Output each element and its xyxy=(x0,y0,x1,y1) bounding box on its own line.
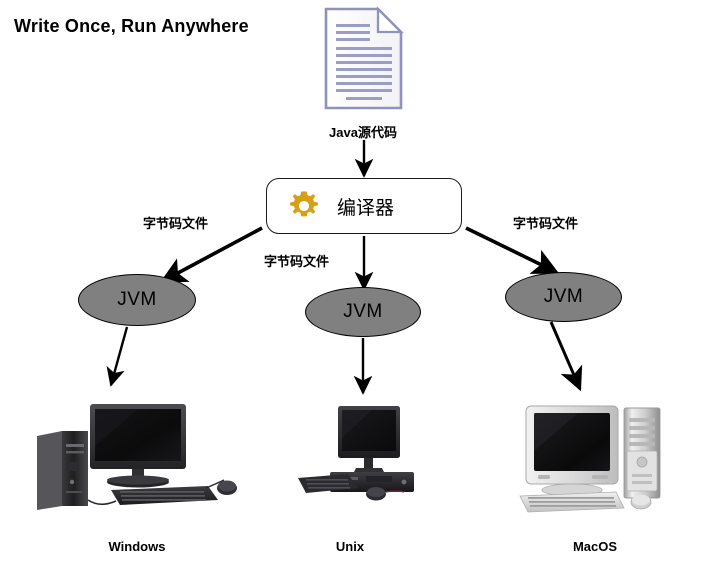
arrow-jvm-windows-to-platform xyxy=(111,327,127,385)
jvm-node-windows[interactable]: JVM xyxy=(78,274,196,326)
jvm-label: JVM xyxy=(544,286,584,308)
jvm-label: JVM xyxy=(343,301,383,323)
document-icon xyxy=(322,6,406,112)
arrow-compiler-to-jvm-macos xyxy=(466,228,556,272)
diagram-canvas: Write Once, Run Anywhere xyxy=(0,0,702,569)
compiler-node[interactable]: 编译器 xyxy=(266,178,462,234)
arrow-jvm-macos-to-platform xyxy=(551,322,580,389)
jvm-node-unix[interactable]: JVM xyxy=(305,287,421,337)
edge-label-bytecode-macos: 字节码文件 xyxy=(513,213,578,232)
arrow-compiler-to-jvm-windows xyxy=(163,228,262,281)
page-title: Write Once, Run Anywhere xyxy=(14,16,249,37)
source-label: Java源代码 xyxy=(303,122,423,141)
platform-label-windows: Windows xyxy=(57,539,217,554)
jvm-node-macos[interactable]: JVM xyxy=(505,272,622,322)
platform-label-macos: MacOS xyxy=(515,539,675,554)
platform-label-unix: Unix xyxy=(275,539,425,554)
desktop-computer-icon-windows xyxy=(28,396,244,524)
gear-icon xyxy=(289,191,319,221)
desktop-computer-icon-unix xyxy=(292,402,418,510)
desktop-computer-icon-macos xyxy=(512,396,668,524)
edge-label-bytecode-unix: 字节码文件 xyxy=(264,251,329,270)
jvm-label: JVM xyxy=(117,289,157,311)
compiler-label: 编译器 xyxy=(337,193,394,220)
edge-label-bytecode-windows: 字节码文件 xyxy=(143,213,208,232)
